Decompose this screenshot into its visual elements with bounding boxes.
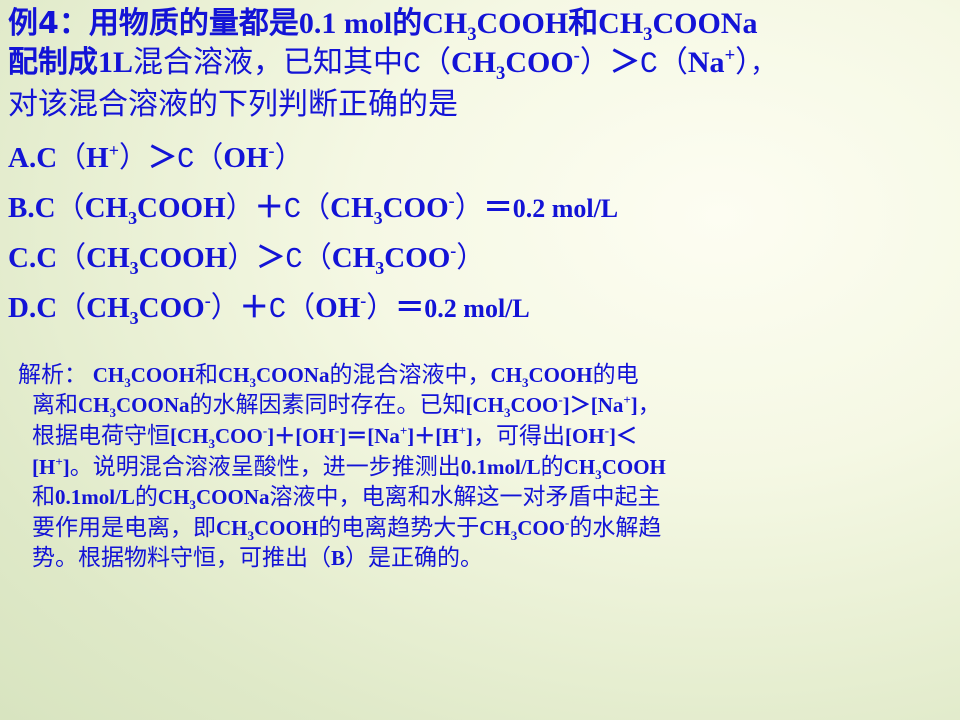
option-c-paren-open: （ — [57, 240, 86, 274]
slide-root: 例4：用物质的量都是0.1 mol的CH3COOH和CH3COONa 配制成1L… — [0, 0, 960, 720]
explanation-t9: 的 — [541, 454, 564, 480]
option-a-gt: ＞ — [148, 140, 177, 174]
option-a-oh: OH- — [223, 142, 274, 174]
explanation-t8: 。说明混合溶液呈酸性，进一步推测出 — [70, 454, 461, 480]
explanation-f8: [H+] — [32, 455, 70, 479]
option-b-value: 0.2 mol/L — [513, 194, 618, 223]
formula-ch3coo-coo: COO — [505, 46, 573, 79]
conc-symbol-2: C — [640, 48, 658, 82]
explanation-line-4: [H+]。说明混合溶液呈酸性，进一步推测出0.1mol/L的CH3COOH — [18, 452, 932, 483]
explanation-t7: ，可得出 — [473, 423, 565, 449]
option-d-paren-close: ） — [211, 290, 240, 324]
explanation-answer: B — [331, 546, 345, 570]
option-b-ch3cooh: CH3COOH — [85, 192, 226, 224]
paren-open-2: （ — [658, 45, 688, 80]
option-a-paren-close-2: ） — [275, 140, 304, 174]
explanation-t16: 势。根据物料守恒，可推出（ — [32, 545, 331, 571]
question-line2-text-c: 混合溶液， — [133, 45, 283, 80]
option-d-paren-close-2: ） — [366, 290, 395, 324]
formula-ch3coo-ch: CH — [451, 46, 496, 79]
question-line-2: 配制成1L混合溶液，已知其中C（CH3COO-）＞C（Na+）， — [8, 43, 950, 85]
formula-ch3cooh: CH3COOH — [422, 7, 568, 40]
question-line1-text-a: 用物质的量都是 — [89, 6, 299, 41]
option-d-oh: OH- — [315, 292, 366, 324]
explanation-block: 解析： CH3COOH和CH3COONa的混合溶液中，CH3COOH的电 离和C… — [8, 360, 950, 574]
explanation-t14: 的电离趋势大于 — [318, 515, 479, 541]
explanation-f5: [CH3COO-]＞[Na+] — [466, 393, 638, 417]
explanation-f2: CH3COONa — [218, 363, 330, 387]
options-list: A.C（H+）＞C（OH-） B.C（CH3COOH）＋C（CH3COO-）＝0… — [8, 134, 950, 334]
explanation-f14: CH3COO- — [479, 516, 569, 540]
option-d-ch3coo: CH3COO- — [86, 292, 211, 324]
option-c-paren-open-2: （ — [303, 240, 332, 274]
option-b-prefix: B.C — [8, 192, 56, 224]
formula-ch3coona-coona: COONa — [652, 7, 757, 40]
explanation-t6: 根据电荷守恒 — [32, 423, 170, 449]
formula-na-plus: Na+ — [688, 46, 735, 79]
option-b-conc: C — [284, 193, 301, 226]
formula-ch3cooh-ch: CH — [422, 7, 467, 40]
option-a[interactable]: A.C（H+）＞C（OH-） — [8, 134, 950, 184]
explanation-f1: CH3COOH — [93, 363, 195, 387]
explanation-line-5: 和0.1mol/L的CH3COONa溶液中，电离和水解这一对矛盾中起主 — [18, 482, 932, 513]
gt-sign-1: ＞ — [610, 45, 640, 80]
explanation-t4: 的水解因素同时存在。已知 — [190, 392, 466, 418]
formula-ch3coo-minus: CH3COO- — [451, 46, 580, 79]
option-a-h: H+ — [86, 142, 119, 174]
option-a-paren-open-2: （ — [194, 140, 223, 174]
option-b-ch3coo: CH3COO- — [330, 192, 455, 224]
option-a-prefix: A.C — [8, 142, 57, 174]
option-d-paren-open-2: （ — [286, 290, 315, 324]
explanation-t11: 的 — [135, 484, 158, 510]
formula-ch3coo-sub: 3 — [496, 63, 505, 84]
explanation-f6: [CH3COO-]＋[OH-]＝[Na+]＋[H+] — [170, 424, 473, 448]
option-c-paren-close-2: ） — [456, 240, 485, 274]
explanation-t17: ）是正确的。 — [345, 545, 483, 571]
explanation-line-2: 离和CH3COONa的水解因素同时存在。已知[CH3COO-]＞[Na+]， — [18, 390, 932, 421]
explanation-f10: CH3COOH — [564, 455, 666, 479]
question-line1-text-f: 和 — [568, 6, 598, 41]
explanation-f9: 0.1mol/L — [461, 455, 541, 479]
formula-ch3coona: CH3COONa — [598, 7, 757, 40]
explanation-line-3: 根据电荷守恒[CH3COO-]＋[OH-]＝[Na+]＋[H+]，可得出[OH-… — [18, 421, 932, 452]
explanation-f7: [OH-]＜ — [565, 424, 637, 448]
option-d-prefix: D.C — [8, 292, 57, 324]
option-a-paren-open: （ — [57, 140, 86, 174]
option-c-ch3cooh: CH3COOH — [86, 242, 227, 274]
option-b-equals: ＝ — [484, 190, 513, 224]
option-c-paren-close: ） — [227, 240, 256, 274]
formula-na: Na — [688, 46, 725, 79]
option-b-paren-close: ） — [226, 190, 255, 224]
option-b-paren-close-2: ） — [455, 190, 484, 224]
question-block: 例4：用物质的量都是0.1 mol的CH3COOH和CH3COONa 配制成1L… — [8, 4, 950, 124]
option-d-paren-open: （ — [57, 290, 86, 324]
option-b-paren-open: （ — [56, 190, 85, 224]
option-d[interactable]: D.C（CH3COO-）＋C（OH-）＝0.2 mol/L — [8, 284, 950, 334]
option-c-prefix: C.C — [8, 242, 57, 274]
question-line1-text-c: 的 — [392, 6, 422, 41]
paren-close-1: ） — [580, 45, 610, 80]
explanation-f3: CH3COOH — [490, 363, 592, 387]
option-c-ch3coo: CH3COO- — [332, 242, 457, 274]
option-a-paren-close: ） — [119, 140, 148, 174]
question-line-3: 对该混合溶液的下列判断正确的是 — [8, 85, 950, 124]
paren-close-2: ） — [735, 45, 750, 80]
question-line2-text-d: 已知其中 — [283, 45, 403, 80]
explanation-t1: 的混合溶液中， — [329, 362, 490, 388]
formula-ch3cooh-cooh: COOH — [477, 7, 569, 40]
explanation-t10: 和 — [32, 484, 55, 510]
question-line2-text-a: 配制成 — [8, 45, 98, 80]
explanation-f13: CH3COOH — [216, 516, 318, 540]
conc-symbol-1: C — [403, 48, 421, 82]
explanation-t12: 溶液中，电离和水解这一对矛盾中起主 — [269, 484, 660, 510]
question-line2-volume: 1L — [98, 46, 133, 79]
explanation-label: 解析： — [18, 362, 87, 388]
formula-na-sup: + — [725, 45, 736, 66]
option-c[interactable]: C.C（CH3COOH）＞C（CH3COO-） — [8, 234, 950, 284]
explanation-f4: CH3COONa — [78, 393, 190, 417]
explanation-line-7: 势。根据物料守恒，可推出（B）是正确的。 — [18, 543, 932, 574]
explanation-t2: 的电 — [593, 362, 639, 388]
explanation-and-1: 和 — [195, 362, 218, 388]
question-label: 例4： — [8, 6, 89, 41]
option-d-plus: ＋ — [240, 290, 269, 324]
option-b[interactable]: B.C（CH3COOH）＋C（CH3COO-）＝0.2 mol/L — [8, 184, 950, 234]
explanation-t5: ， — [638, 392, 661, 418]
paren-open-1: （ — [421, 45, 451, 80]
option-d-conc: C — [269, 293, 286, 326]
explanation-line-1: 解析： CH3COOH和CH3COONa的混合溶液中，CH3COOH的电 — [18, 360, 932, 391]
option-c-gt: ＞ — [256, 240, 285, 274]
option-a-conc: C — [177, 143, 194, 176]
explanation-line-6: 要作用是电离，即CH3COOH的电离趋势大于CH3COO-的水解趋 — [18, 513, 932, 544]
explanation-t15: 的水解趋 — [569, 515, 661, 541]
explanation-t13: 要作用是电离，即 — [32, 515, 216, 541]
option-d-equals: ＝ — [395, 290, 424, 324]
question-line-1: 例4：用物质的量都是0.1 mol的CH3COOH和CH3COONa — [8, 4, 950, 43]
question-line1-amount: 0.1 mol — [299, 7, 392, 40]
explanation-f12: CH3COONa — [158, 485, 270, 509]
option-b-paren-open-2: （ — [301, 190, 330, 224]
explanation-t3: 离和 — [32, 392, 78, 418]
formula-ch3cooh-sub: 3 — [467, 24, 476, 45]
option-c-conc: C — [285, 243, 302, 276]
option-d-value: 0.2 mol/L — [424, 294, 529, 323]
formula-ch3coona-ch: CH — [598, 7, 643, 40]
question-line2-comma: ， — [750, 49, 776, 79]
explanation-f11: 0.1mol/L — [55, 485, 135, 509]
option-b-plus: ＋ — [255, 190, 284, 224]
